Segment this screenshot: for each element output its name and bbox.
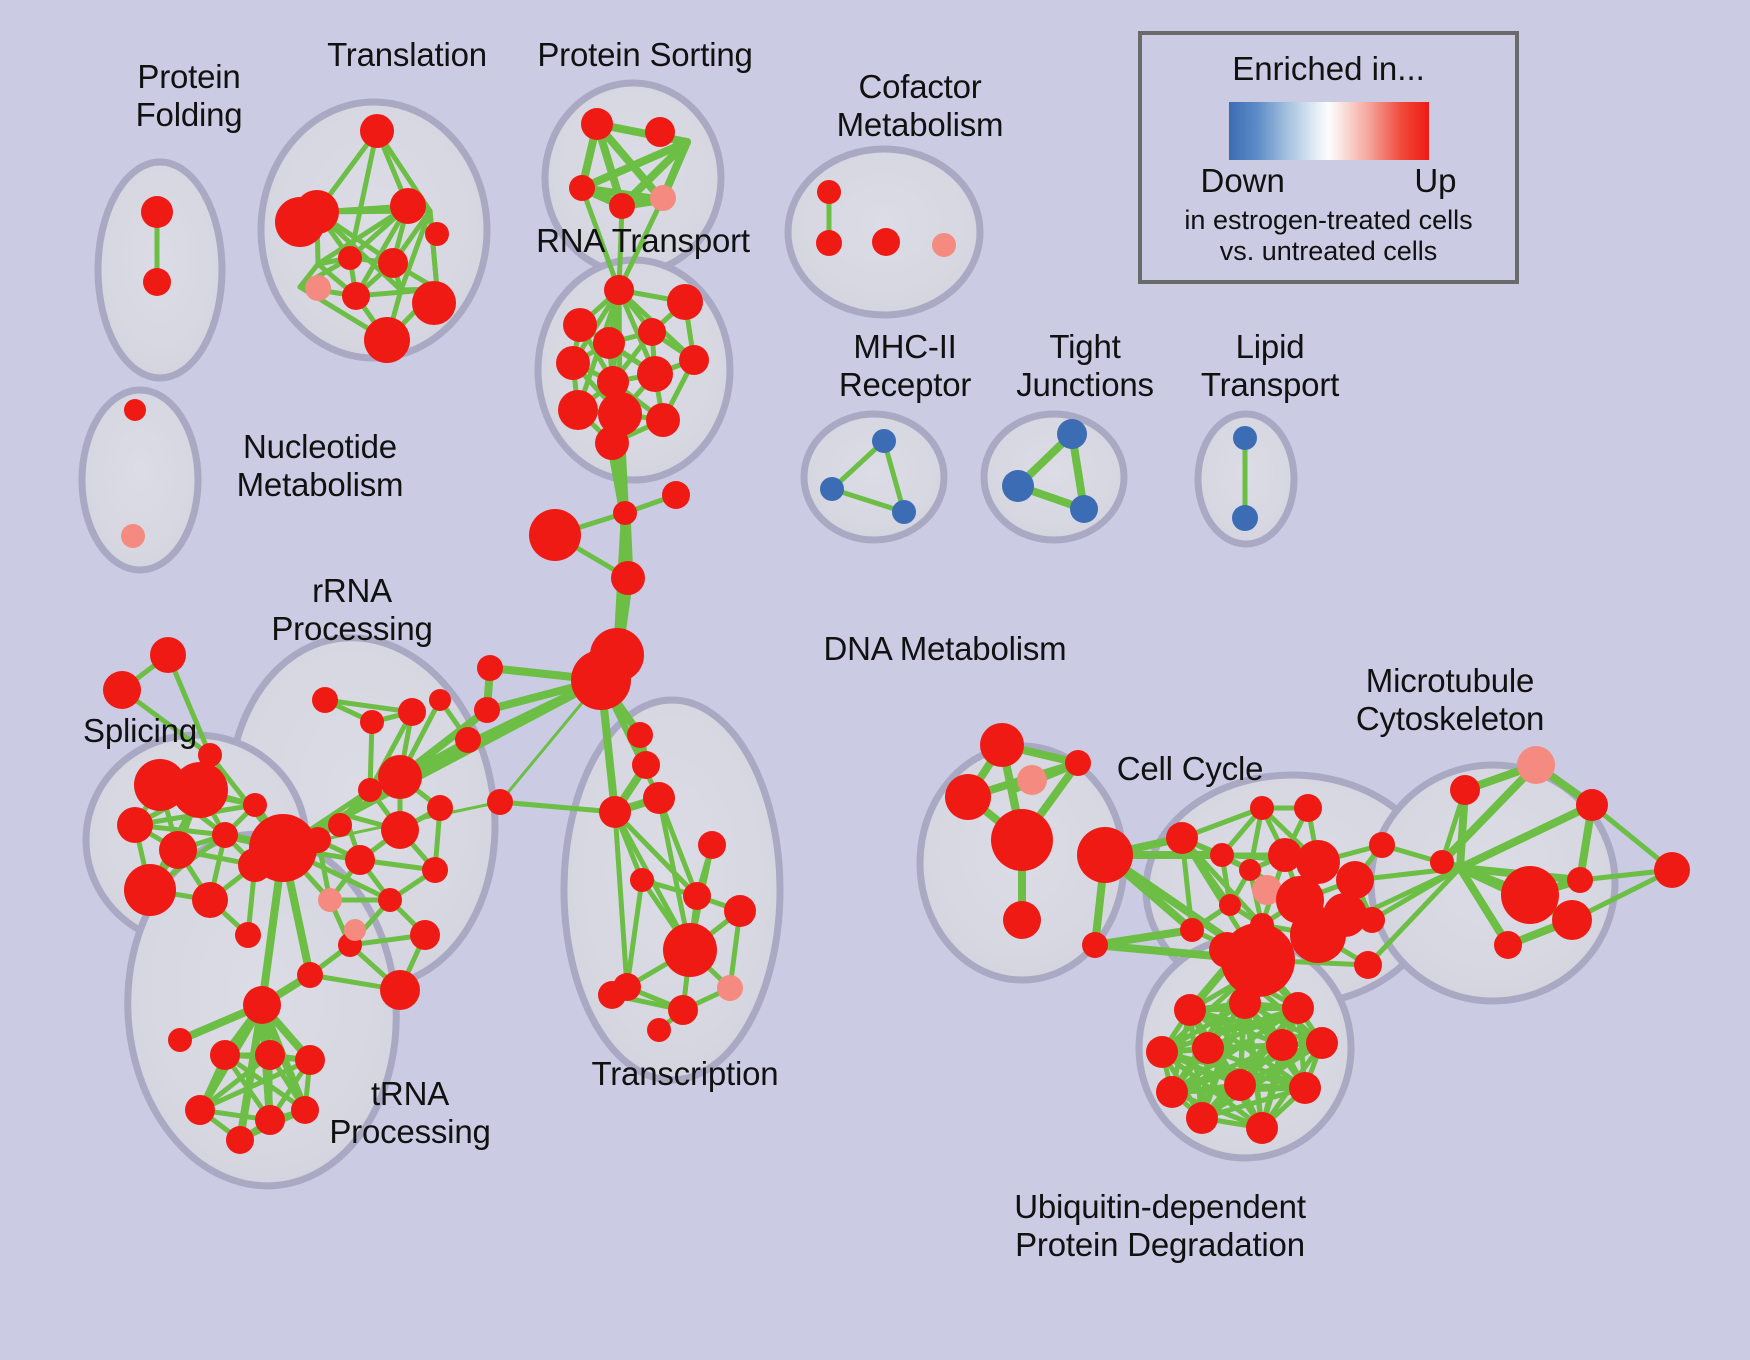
node-up [429, 689, 451, 711]
node-up [358, 778, 382, 802]
node-up [647, 1018, 671, 1042]
node-up [724, 895, 756, 927]
node-up [380, 970, 420, 1010]
node-up [1501, 866, 1559, 924]
node-up [611, 561, 645, 595]
node-up [192, 882, 228, 918]
node-up [455, 727, 481, 753]
node-up [1567, 867, 1593, 893]
node-up [698, 831, 726, 859]
node-up-pale [717, 975, 743, 1001]
node-up [1077, 827, 1133, 883]
node-up [569, 175, 595, 201]
node-up [646, 403, 680, 437]
node-up-pale [1017, 765, 1047, 795]
node-up [563, 308, 597, 342]
node-up-pale [318, 888, 342, 912]
node-up [255, 1105, 285, 1135]
node-up [1289, 1072, 1321, 1104]
node-up [1239, 859, 1261, 881]
node-up [1146, 1036, 1178, 1068]
node-up [1166, 822, 1198, 854]
node-up [328, 813, 352, 837]
enrichment-map-figure: .cl { fill:url(#cg); stroke:#a9a9c4; str… [0, 0, 1750, 1360]
node-up [627, 722, 653, 748]
node-up [1192, 1032, 1224, 1064]
node-up [1219, 894, 1241, 916]
legend-color-gradient-bar [1229, 102, 1429, 160]
node-up [143, 268, 171, 296]
node-up [1282, 992, 1314, 1024]
node-up [364, 317, 410, 363]
node-up [124, 399, 146, 421]
node-up [1229, 987, 1261, 1019]
legend-caption: in estrogen-treated cells vs. untreated … [1142, 205, 1515, 267]
node-up [945, 774, 991, 820]
node-up [243, 986, 281, 1024]
node-up [338, 246, 362, 270]
node-up [342, 282, 370, 310]
node-up [1494, 931, 1522, 959]
legend-endpoint-labels: Down Up [1201, 162, 1457, 202]
node-up [1576, 789, 1608, 821]
node-up [378, 755, 422, 799]
node-up [1003, 901, 1041, 939]
node-up [297, 962, 323, 988]
node-up [1430, 850, 1454, 874]
node-up [345, 845, 375, 875]
node-up [360, 710, 384, 734]
node-up-pale [1517, 746, 1555, 784]
legend-title: Enriched in... [1142, 50, 1515, 88]
node-up [226, 1126, 254, 1154]
node-up [425, 222, 449, 246]
node-down [1057, 419, 1087, 449]
node-up [117, 807, 153, 843]
legend-panel: Enriched in... Down Up in estrogen-treat… [1138, 31, 1519, 284]
node-up [1552, 900, 1592, 940]
node-up [398, 698, 426, 726]
node-up [1180, 918, 1204, 942]
node-down [1232, 505, 1258, 531]
node-up [667, 284, 703, 320]
node-up [168, 1028, 192, 1052]
node-up [103, 671, 141, 709]
node-up [255, 1040, 285, 1070]
node-up [141, 196, 173, 228]
node-up [474, 697, 500, 723]
node-down [820, 477, 844, 501]
node-up [124, 864, 176, 916]
node-up [1082, 932, 1108, 958]
node-up [1186, 1102, 1218, 1134]
node-up [360, 114, 394, 148]
node-up [1250, 796, 1274, 820]
legend-low-label: Down [1201, 162, 1285, 200]
node-up [679, 345, 709, 375]
node-up [816, 230, 842, 256]
node-up [249, 814, 317, 882]
node-up [604, 275, 634, 305]
node-up [159, 831, 197, 869]
node-up [668, 995, 698, 1025]
node-up-pale [121, 524, 145, 548]
node-up [643, 782, 675, 814]
node-up [609, 193, 635, 219]
node-up [210, 1040, 240, 1070]
node-up [1210, 843, 1234, 867]
node-up [662, 481, 690, 509]
node-up [630, 868, 654, 892]
node-up [275, 197, 325, 247]
node-up [1359, 907, 1385, 933]
node-up [295, 1045, 325, 1075]
node-down [1070, 495, 1098, 523]
node-up [291, 1096, 319, 1124]
cluster-ellipse-protein-sorting [545, 83, 721, 273]
node-up-pale [344, 919, 366, 941]
node-up [477, 655, 503, 681]
node-down [1002, 470, 1034, 502]
node-up [638, 318, 666, 346]
node-up [243, 793, 267, 817]
node-up [150, 637, 186, 673]
node-up [556, 346, 590, 380]
node-up [1156, 1076, 1188, 1108]
node-up [1369, 832, 1395, 858]
node-up [381, 811, 419, 849]
node-down [1233, 426, 1257, 450]
node-up [632, 751, 660, 779]
node-up [487, 789, 513, 815]
node-up [599, 796, 631, 828]
node-up-pale [305, 275, 331, 301]
node-up [1294, 794, 1322, 822]
node-up [637, 356, 673, 392]
node-up [593, 327, 625, 359]
node-up [410, 920, 440, 950]
node-up [817, 180, 841, 204]
node-up [235, 922, 261, 948]
node-up [212, 822, 238, 848]
node-up [422, 857, 448, 883]
node-up [1354, 951, 1382, 979]
node-up [1266, 1029, 1298, 1061]
node-up [378, 248, 408, 278]
node-up [980, 723, 1024, 767]
node-up [598, 981, 626, 1009]
node-up [595, 426, 629, 460]
node-up [1246, 1112, 1278, 1144]
node-up [378, 888, 402, 912]
node-up [613, 501, 637, 525]
node-up [185, 1095, 215, 1125]
node-up [390, 188, 426, 224]
node-up [312, 687, 338, 713]
node-up [1654, 852, 1690, 888]
node-up [645, 117, 675, 147]
node-up [1224, 1069, 1256, 1101]
node-up [1065, 750, 1091, 776]
node-up [571, 650, 631, 710]
node-up [663, 923, 717, 977]
node-up [872, 228, 900, 256]
node-up-pale [650, 185, 676, 211]
node-up [683, 882, 711, 910]
cluster-ellipse-mhc-ii-receptor [804, 414, 944, 540]
node-up-pale [932, 233, 956, 257]
node-up [529, 509, 581, 561]
node-up [1174, 994, 1206, 1026]
node-down [872, 429, 896, 453]
node-up [1306, 1027, 1338, 1059]
node-up [558, 390, 598, 430]
node-up [581, 108, 613, 140]
node-up [991, 809, 1053, 871]
node-down [892, 500, 916, 524]
node-up [1209, 932, 1245, 968]
legend-high-label: Up [1414, 162, 1456, 200]
node-up [1450, 775, 1480, 805]
node-up [172, 762, 228, 818]
node-up [412, 281, 456, 325]
node-up [427, 795, 453, 821]
